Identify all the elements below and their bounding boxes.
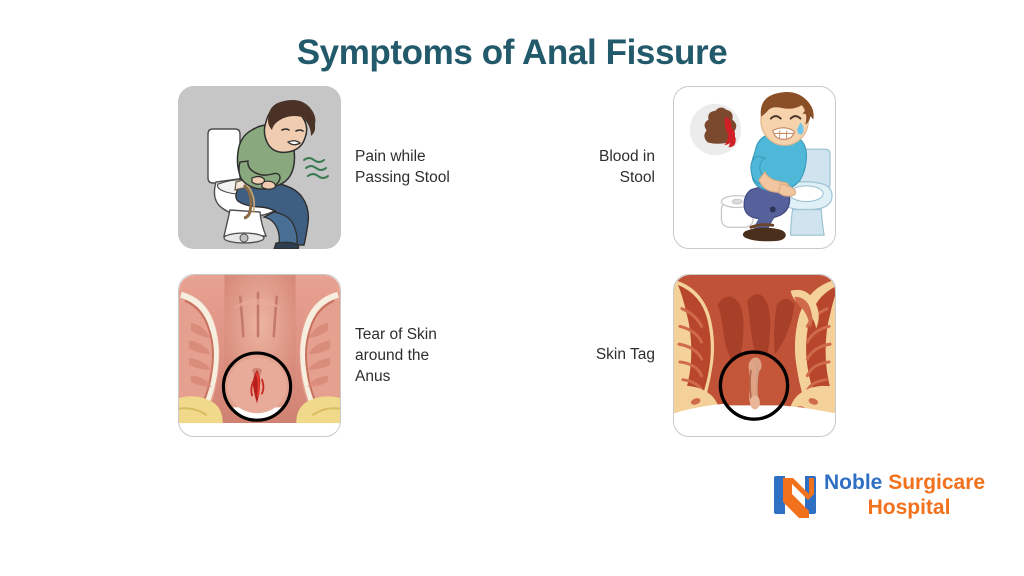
logo-word-noble: Noble [824, 471, 882, 494]
logo-wordmark: Noble Surgicare Hospital [824, 470, 994, 520]
symptom-image-blood-in-stool [673, 86, 836, 249]
page-title: Symptoms of Anal Fissure [0, 33, 1024, 73]
symptom-image-pain-while-passing-stool [178, 86, 341, 249]
symptom-label-line-1: Tear of Skin [355, 324, 535, 345]
symptom-image-skin-tag [673, 274, 836, 437]
symptom-label-skin-tag: Skin Tag [475, 344, 655, 365]
logo-word-hospital: Hospital [824, 495, 994, 520]
infographic-page: Symptoms of Anal Fissure [0, 0, 1024, 576]
symptom-label-line-2: Stool [475, 167, 655, 188]
logo-line-1: Noble Surgicare [824, 470, 994, 495]
hospital-logo[interactable]: Noble Surgicare Hospital [772, 470, 994, 524]
symptom-label-line-1: Blood in [475, 146, 655, 167]
symptom-label-line-1: Skin Tag [475, 344, 655, 365]
symptom-label-blood-in-stool: Blood in Stool [475, 146, 655, 188]
logo-word-surgicare: Surgicare [888, 471, 985, 494]
symptom-label-line-3: Anus [355, 366, 535, 387]
symptom-image-tear-of-skin-around-anus [178, 274, 341, 437]
noble-surgicare-n-mark-icon [772, 472, 818, 518]
